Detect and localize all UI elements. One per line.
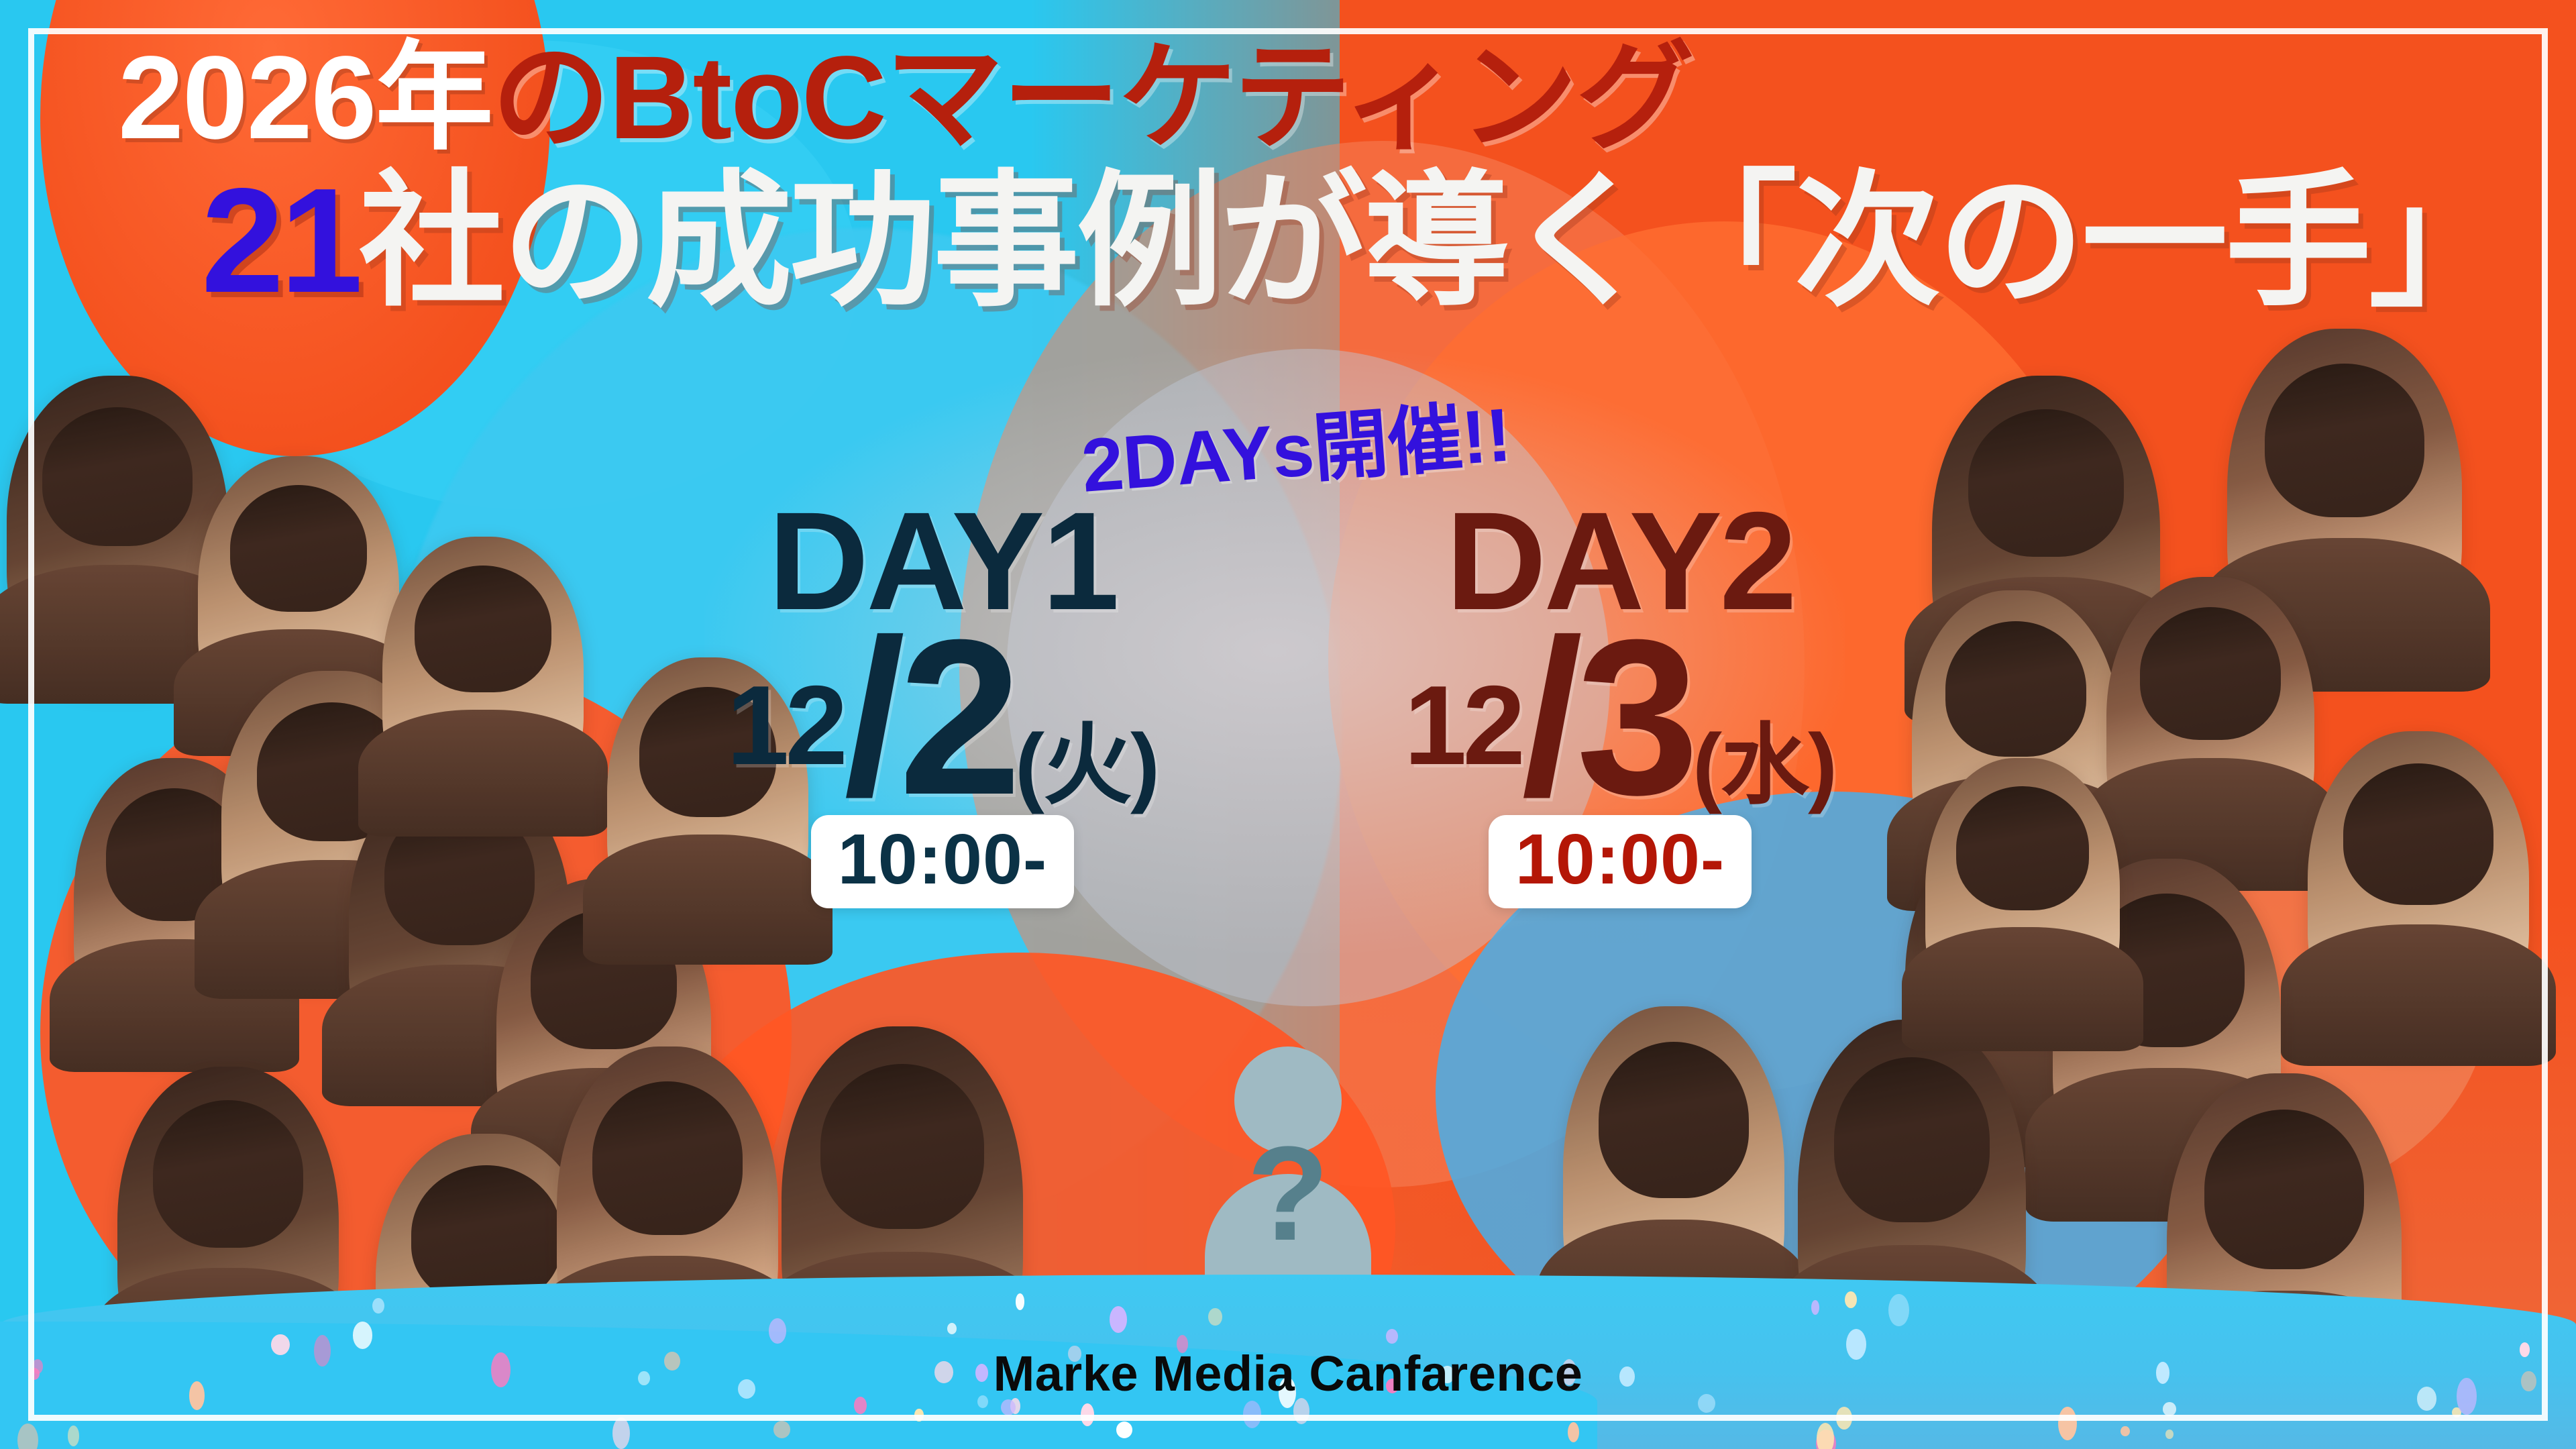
speaker-portrait [7,376,228,691]
day1-date: 12 / 2 (火) [678,622,1207,812]
day1-weekday: (火) [1015,727,1159,804]
speaker-portrait [2106,577,2314,879]
day1-month: 12 [727,677,844,773]
confetti-dot [1208,1308,1222,1326]
headline-line-1: 2026年のBtoCマーケティング [0,39,2576,157]
placeholder-speaker: ? [1201,1046,1375,1301]
confetti-dot [1081,1403,1094,1426]
confetti-dot [2058,1407,2077,1441]
confetti-dot [1888,1294,1909,1327]
event-name-footer: Marke Media Canfarence [0,1345,2576,1402]
confetti-dot [1386,1329,1397,1344]
headline-year: 2026年 [118,32,492,164]
day1-day: 2 [899,622,1016,812]
confetti-dot [1116,1421,1132,1438]
confetti-dot [612,1417,630,1449]
confetti-dot [1016,1293,1024,1309]
headline-count: 21 [201,158,359,324]
promo-banner: ? 2026年のBtoCマーケティング 21社の成功事例が導く「次の一手」 2D… [0,0,2576,1449]
day2-time-pill: 10:00- [1489,815,1752,908]
confetti-dot [914,1409,923,1421]
confetti-dot [1243,1401,1262,1428]
day2-weekday: (水) [1693,727,1836,804]
confetti-dot [773,1421,790,1438]
day1-slash: / [844,622,899,812]
confetti-dot [1811,1300,1819,1315]
speaker-portrait [382,537,584,825]
headline-topic: のBtoCマーケティング [492,32,1693,164]
speaker-portrait [1925,758,2120,1040]
confetti-dot [372,1298,384,1314]
speaker-portrait [2308,731,2529,1053]
headline-subject: 社の成功事例が導く「次の一手」 [359,160,2512,323]
day2-slash: / [1521,622,1576,812]
confetti-dot [68,1426,79,1446]
confetti-dot [1836,1407,1852,1430]
headline-block: 2026年のBtoCマーケティング 21社の成功事例が導く「次の一手」 [0,39,2576,315]
confetti-dot [2163,1402,2176,1415]
day2-month: 12 [1404,677,1521,773]
day2-day: 3 [1576,622,1693,812]
day1-block: DAY1 12 / 2 (火) 10:00- [678,498,1207,908]
confetti-dot [1817,1423,1834,1449]
confetti-dot [2121,1426,2130,1436]
question-mark-icon: ? [1201,1127,1375,1261]
confetti-dot [769,1318,787,1344]
headline-line-2: 21社の成功事例が導く「次の一手」 [0,166,2576,315]
day2-date: 12 / 3 (水) [1355,622,1885,812]
day1-time-pill: 10:00- [811,815,1074,908]
day2-block: DAY2 12 / 3 (水) 10:00- [1355,498,1885,908]
